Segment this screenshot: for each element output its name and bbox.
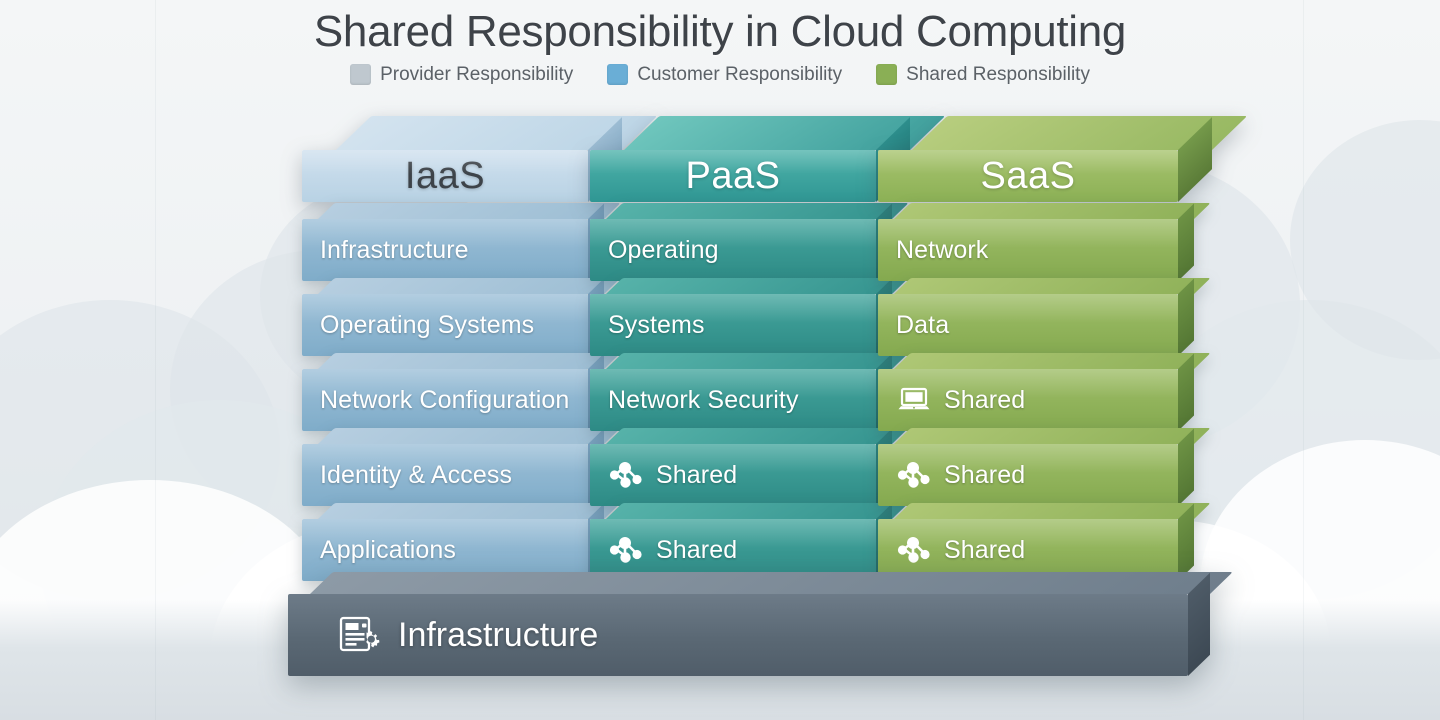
block-top-face — [606, 278, 909, 294]
block-top-face — [606, 353, 909, 369]
block-top-face — [606, 503, 909, 519]
network-nodes-icon — [608, 458, 644, 492]
block-top-face — [318, 503, 621, 519]
network-nodes-icon — [896, 458, 932, 492]
block-front-face: Network Configuration — [302, 369, 588, 431]
layer-label: Applications — [320, 536, 456, 565]
block-top-face — [894, 353, 1211, 369]
block-front-face: Infrastructure — [302, 219, 588, 281]
block-front-face: Shared — [878, 369, 1178, 431]
base-label: Infrastructure — [398, 616, 598, 655]
legend-label-shared: Shared Responsibility — [906, 64, 1090, 86]
layer-label: Shared — [944, 461, 1025, 490]
layer-iaas-identity-access[interactable]: Identity & Access — [302, 428, 588, 506]
foundation-infrastructure-slab[interactable]: Infrastructure — [288, 572, 1188, 676]
diagram-header: Shared Responsibility in Cloud Computing… — [0, 0, 1440, 86]
network-nodes-icon — [608, 533, 644, 567]
layer-label: Identity & Access — [320, 461, 512, 490]
layer-label: Shared — [944, 386, 1025, 415]
stack-diagram: IaaS Infrastructure Operating Systems — [0, 0, 1440, 720]
layer-saas-shared-1[interactable]: Shared — [878, 353, 1178, 431]
layer-label: Shared — [944, 536, 1025, 565]
block-top-face — [318, 428, 621, 444]
block-front-face: Operating — [590, 219, 876, 281]
block-front-face: Systems — [590, 294, 876, 356]
layer-label: Shared — [656, 461, 737, 490]
layer-label: Systems — [608, 311, 705, 340]
layer-paas-systems[interactable]: Systems — [590, 278, 876, 356]
column-header-label: SaaS — [981, 155, 1076, 198]
block-front-face: Shared — [590, 444, 876, 506]
layer-label: Operating — [608, 236, 719, 265]
block-front-face: Data — [878, 294, 1178, 356]
block-front-face: Shared — [878, 444, 1178, 506]
column-header-saas[interactable]: SaaS — [878, 116, 1178, 202]
laptop-icon — [896, 383, 932, 417]
legend-item-provider: Provider Responsibility — [350, 64, 573, 86]
block-side-face — [1178, 504, 1194, 581]
layer-paas-network-security[interactable]: Network Security — [590, 353, 876, 431]
layer-label: Operating Systems — [320, 311, 534, 340]
layer-label: Infrastructure — [320, 236, 469, 265]
block-front-face: SaaS — [878, 150, 1178, 202]
block-top-face — [318, 278, 621, 294]
block-top-face — [894, 278, 1211, 294]
layer-label: Network Configuration — [320, 386, 569, 415]
column-header-paas[interactable]: PaaS — [590, 116, 876, 202]
layer-iaas-applications[interactable]: Applications — [302, 503, 588, 581]
legend: Provider Responsibility Customer Respons… — [0, 64, 1440, 86]
block-front-face: IaaS — [302, 150, 588, 202]
block-side-face — [1178, 354, 1194, 431]
layer-paas-shared-1[interactable]: Shared — [590, 428, 876, 506]
block-front-face: Operating Systems — [302, 294, 588, 356]
block-top-face — [318, 203, 621, 219]
block-front-face: Network — [878, 219, 1178, 281]
block-side-face — [1178, 204, 1194, 281]
block-top-face — [894, 203, 1211, 219]
legend-label-customer: Customer Responsibility — [637, 64, 842, 86]
legend-swatch-provider — [350, 64, 371, 85]
block-top-face — [606, 203, 909, 219]
base-top-face — [310, 572, 1233, 594]
page-title: Shared Responsibility in Cloud Computing — [0, 0, 1440, 58]
block-side-face — [1178, 279, 1194, 356]
block-top-face — [894, 503, 1211, 519]
legend-item-shared: Shared Responsibility — [876, 64, 1090, 86]
layer-label: Network Security — [608, 386, 799, 415]
layer-paas-operating[interactable]: Operating — [590, 203, 876, 281]
legend-item-customer: Customer Responsibility — [607, 64, 842, 86]
layer-paas-shared-2[interactable]: Shared — [590, 503, 876, 581]
layer-iaas-operating-systems[interactable]: Operating Systems — [302, 278, 588, 356]
block-side-face — [1178, 429, 1194, 506]
layer-label: Shared — [656, 536, 737, 565]
layer-label: Data — [896, 311, 949, 340]
network-nodes-icon — [896, 533, 932, 567]
legend-label-provider: Provider Responsibility — [380, 64, 573, 86]
column-header-iaas[interactable]: IaaS — [302, 116, 588, 202]
column-header-label: PaaS — [686, 155, 781, 198]
legend-swatch-customer — [607, 64, 628, 85]
layer-saas-shared-3[interactable]: Shared — [878, 503, 1178, 581]
layer-saas-network[interactable]: Network — [878, 203, 1178, 281]
layer-saas-data[interactable]: Data — [878, 278, 1178, 356]
layer-iaas-infrastructure[interactable]: Infrastructure — [302, 203, 588, 281]
block-front-face: PaaS — [590, 150, 876, 202]
document-gear-icon — [336, 612, 382, 658]
base-front-face: Infrastructure — [288, 594, 1188, 676]
block-top-face — [894, 428, 1211, 444]
layer-saas-shared-2[interactable]: Shared — [878, 428, 1178, 506]
legend-swatch-shared — [876, 64, 897, 85]
block-front-face: Network Security — [590, 369, 876, 431]
block-front-face: Identity & Access — [302, 444, 588, 506]
layer-label: Network — [896, 236, 988, 265]
block-top-face — [318, 353, 621, 369]
block-top-face — [606, 428, 909, 444]
column-header-label: IaaS — [405, 155, 485, 198]
layer-iaas-network-configuration[interactable]: Network Configuration — [302, 353, 588, 431]
